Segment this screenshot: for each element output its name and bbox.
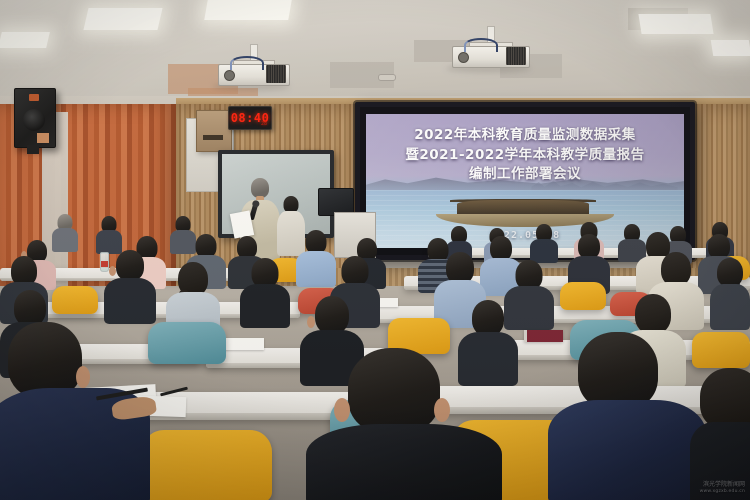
ceiling-light-panel xyxy=(711,40,750,56)
clock-seconds: 28 xyxy=(261,121,267,127)
attendee-ear xyxy=(334,398,350,422)
chair-teal xyxy=(148,322,226,364)
chair-yellow-foreground xyxy=(142,430,272,500)
chair-yellow xyxy=(560,282,606,310)
attendee-head xyxy=(635,294,671,334)
attendee-r3-4 xyxy=(240,258,290,326)
slide-title: 2022年本科教育质量监测数据采集 暨2021-2022学年本科教学质量报告 编… xyxy=(366,126,684,185)
projector-cable xyxy=(464,38,498,52)
attendee-head xyxy=(315,296,349,334)
attendee-head xyxy=(116,250,144,281)
attendee-ear xyxy=(76,366,90,388)
attendee-foreground-center xyxy=(306,348,506,500)
ceiling-light-panel xyxy=(638,14,713,34)
slide-title-line-1: 2022年本科教育质量监测数据采集 xyxy=(366,126,684,146)
attendee-head xyxy=(700,368,750,430)
attendee-r3-9 xyxy=(710,258,750,328)
attendee-head xyxy=(348,348,440,434)
attendee-ear xyxy=(434,398,450,422)
wall-speaker-left xyxy=(14,88,56,148)
boat-cabin xyxy=(457,200,589,215)
attendee-head xyxy=(8,322,82,398)
attendee-torso xyxy=(240,284,290,328)
ceiling-projector-left xyxy=(218,44,288,94)
ceiling-light-panel xyxy=(83,8,162,30)
cabinet-slot xyxy=(203,135,223,140)
attendee-r5-l2 xyxy=(96,216,122,252)
attendee-head xyxy=(717,258,743,287)
attendee-head xyxy=(661,252,691,286)
presenter-head xyxy=(251,178,269,198)
attendee-head xyxy=(342,256,369,286)
speaker-bracket xyxy=(27,145,39,154)
ceiling-light-panel xyxy=(204,0,292,20)
meeting-room-photo: 08:40 28 2022年本科教育质量监测数据采集 暨2021-2022学年本… xyxy=(0,0,750,500)
attendee-head xyxy=(578,332,658,410)
watermark-line-1: 滨光学院新闻网 xyxy=(700,480,745,489)
attendee-ear xyxy=(109,266,116,276)
ceiling-light-panel xyxy=(0,32,50,48)
attendee-torso xyxy=(710,284,750,330)
ceiling-projector-right xyxy=(452,26,528,78)
projector-lens-icon xyxy=(224,70,235,81)
projector-cable xyxy=(230,56,264,70)
wall-cabinet xyxy=(196,110,232,152)
attendee-torso xyxy=(104,278,156,324)
smoke-detector-icon xyxy=(378,74,396,81)
watermark: 滨光学院新闻网 www.xgzxb.edu.cn xyxy=(700,480,745,496)
attendee-head xyxy=(14,290,46,326)
attendee-foreground-right xyxy=(548,332,708,500)
attendee-torso xyxy=(306,424,502,500)
speaker-tweeter-icon xyxy=(29,94,39,101)
attendee-ear xyxy=(307,316,315,328)
slide-title-line-2: 暨2021-2022学年本科教学质量报告 xyxy=(366,146,684,166)
watermark-line-2: www.xgzxb.edu.cn xyxy=(700,489,745,496)
speaker-label xyxy=(37,133,49,143)
attendee-r3-2 xyxy=(104,250,156,322)
projector-vent xyxy=(266,65,286,83)
slide-title-line-3: 编制工作部署会议 xyxy=(366,165,684,185)
projector-vent xyxy=(506,47,526,65)
attendee-r5-3 xyxy=(530,224,558,260)
document-page xyxy=(224,338,264,350)
led-wall-clock: 08:40 28 xyxy=(228,106,272,130)
attendee-head xyxy=(472,300,504,336)
projector-lens-icon xyxy=(458,52,469,63)
attendee-torso xyxy=(548,400,706,500)
speaker-cone-icon xyxy=(23,109,45,131)
